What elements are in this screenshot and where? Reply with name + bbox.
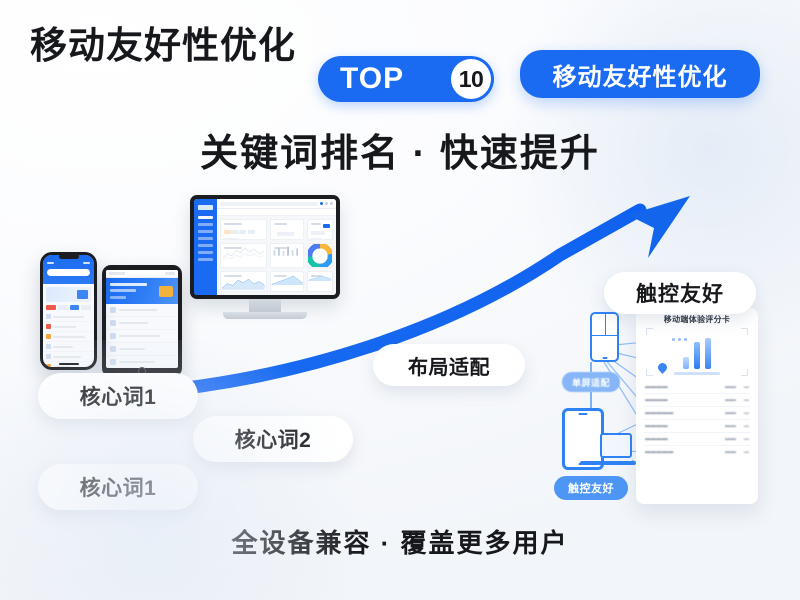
footer-caption: 全设备兼容 · 覆盖更多用户 <box>0 523 800 560</box>
top-badge-number: 10 <box>459 66 484 93</box>
score-row-value: ▬▬ <box>725 397 736 403</box>
score-row-name: ▬▬▬▬ <box>645 423 721 429</box>
score-row: ▬▬▬▬ ▬▬ ▬ <box>644 420 750 433</box>
poster-canvas: 移动友好性优化 TOP 10 移动友好性优化 关键词排名 · 快速提升 <box>0 0 800 600</box>
hero-baseline <box>674 372 720 375</box>
bar-chart <box>271 244 304 257</box>
location-pin-icon <box>656 361 669 374</box>
phone-search-input <box>47 269 90 276</box>
dashboard-chart-card <box>220 271 267 292</box>
score-row-delta: ▬ <box>740 449 749 455</box>
donut-chart <box>307 243 333 267</box>
page-title: 移动友好性优化 <box>30 26 296 67</box>
top-rank-badge: TOP 10 <box>318 56 494 102</box>
phone-tab <box>46 305 56 310</box>
dashboard-chart-card <box>270 243 305 267</box>
score-row-delta: ▬ <box>740 397 749 403</box>
tablet-list-row <box>106 343 178 356</box>
phone-list-row <box>43 322 94 332</box>
score-row-delta: ▬ <box>740 384 749 390</box>
dashboard-nav-item <box>198 223 213 226</box>
device-mockup-cluster <box>22 195 352 395</box>
device-relationship-diagram: 单屏适配 触控友好 <box>538 300 646 510</box>
phone-list-row <box>43 352 94 362</box>
dashboard-avatar <box>330 202 333 205</box>
top-badge-number-circle: 10 <box>451 59 491 99</box>
diagram-phone-small <box>590 312 619 362</box>
monitor-bezel <box>190 195 340 299</box>
tablet-list-row <box>106 304 178 317</box>
area-chart <box>308 272 332 282</box>
score-row-value: ▬▬ <box>725 449 736 455</box>
phone-tab <box>70 305 80 310</box>
dashboard-chart-card <box>307 271 333 292</box>
monitor-stand-neck <box>249 299 281 312</box>
monitor-screen <box>194 199 336 295</box>
score-card-title: 移动端体验评分卡 <box>644 314 750 325</box>
score-row-value: ▬▬ <box>725 423 736 429</box>
phone-list-row <box>43 342 94 352</box>
dashboard-icon <box>325 202 328 205</box>
dashboard-card <box>307 219 333 240</box>
dashboard-donut-card <box>307 243 333 267</box>
phone-notch <box>59 254 79 259</box>
mobile-experience-score-card: 移动端体验评分卡 ▬▬▬▬ ▬▬ ▬ ▬▬▬▬ ▬▬ ▬ ▬▬▬▬▬ ▬▬ ▬ <box>636 308 758 504</box>
score-row-delta: ▬ <box>740 410 749 416</box>
phone-screen <box>43 255 94 367</box>
dashboard-card <box>270 219 305 240</box>
monitor-stand-foot <box>223 312 307 319</box>
score-row: ▬▬▬▬ ▬▬ ▬ <box>644 381 750 394</box>
score-row-name: ▬▬▬▬▬ <box>645 449 721 455</box>
dashboard-nav-item <box>198 244 213 247</box>
phone-statusbar <box>43 262 94 266</box>
score-row: ▬▬▬▬ ▬▬ ▬ <box>644 433 750 446</box>
line-chart <box>221 244 266 262</box>
score-row: ▬▬▬▬ ▬▬ ▬ <box>644 394 750 407</box>
score-row: ▬▬▬▬▬ ▬▬ ▬ <box>644 407 750 420</box>
keyword-pill[interactable]: 核心词1 <box>38 464 198 510</box>
diagram-laptop <box>596 433 632 467</box>
score-row-value: ▬▬ <box>725 384 736 390</box>
phone-app-header <box>43 255 94 284</box>
dashboard-sidebar <box>194 199 217 295</box>
score-row-name: ▬▬▬▬ <box>645 384 721 390</box>
area-chart <box>271 272 304 285</box>
top-badge-word: TOP <box>340 62 404 96</box>
phone-promo-banner <box>46 287 91 302</box>
phone-tab <box>58 305 68 310</box>
score-row-name: ▬▬▬▬ <box>645 436 721 442</box>
score-card-hero-chart <box>646 328 748 376</box>
banner-card-icon <box>159 286 173 297</box>
promo-card-icon <box>77 290 88 299</box>
dashboard-breadcrumb <box>217 209 336 216</box>
score-row-value: ▬▬ <box>725 410 736 416</box>
tablet-list-row <box>106 330 178 343</box>
dashboard-card <box>220 219 267 240</box>
dashboard-chart-card <box>220 243 267 267</box>
annotation-pill-touch-friendly[interactable]: 触控友好 <box>604 272 756 314</box>
phone-list-row <box>43 312 94 322</box>
tablet-statusbar <box>106 270 178 278</box>
tag-pill-mobile-friendly: 移动友好性优化 <box>520 50 760 98</box>
tablet-banner <box>106 278 178 304</box>
keyword-pill[interactable]: 核心词2 <box>193 416 353 462</box>
dashboard-icon <box>320 202 323 205</box>
desktop-monitor-mockup <box>190 195 340 320</box>
dashboard-nav-item <box>198 251 213 254</box>
score-row-name: ▬▬▬▬ <box>645 397 721 403</box>
hero-bar-chart <box>683 335 711 369</box>
diagram-pill-touch-friendly: 触控友好 <box>554 476 628 500</box>
score-row: ▬▬▬▬▬ ▬▬ ▬ <box>644 446 750 458</box>
dashboard-grid <box>217 216 336 295</box>
tablet-screen <box>106 270 178 368</box>
dashboard-nav-item <box>198 230 213 233</box>
phone-list-row <box>43 332 94 342</box>
phone-tab <box>81 305 91 310</box>
dashboard-nav-item <box>198 258 213 261</box>
score-row-delta: ▬ <box>740 436 749 442</box>
dashboard-main <box>217 199 336 295</box>
score-row-name: ▬▬▬▬▬ <box>645 410 721 416</box>
phone-home-indicator <box>59 363 79 365</box>
annotation-pill-layout-adaptation[interactable]: 布局适配 <box>373 344 525 386</box>
dashboard-nav-item <box>198 216 213 219</box>
page-subtitle: 关键词排名 · 快速提升 <box>0 122 800 177</box>
dashboard-chart-card <box>270 271 305 292</box>
dashboard-nav-item <box>198 237 213 240</box>
score-row-delta: ▬ <box>740 423 749 429</box>
keyword-pill[interactable]: 核心词1 <box>38 373 198 419</box>
dashboard-search-input <box>220 202 318 206</box>
dashboard-logo <box>198 205 213 210</box>
tablet-mockup <box>102 265 182 377</box>
dashboard-topbar <box>217 199 336 209</box>
diagram-pill-single-screen: 单屏适配 <box>562 372 620 392</box>
tablet-list-row <box>106 317 178 330</box>
phone-mockup <box>40 252 97 370</box>
area-chart <box>221 272 266 290</box>
phone-tab-strip <box>43 305 94 312</box>
score-row-value: ▬▬ <box>725 436 736 442</box>
